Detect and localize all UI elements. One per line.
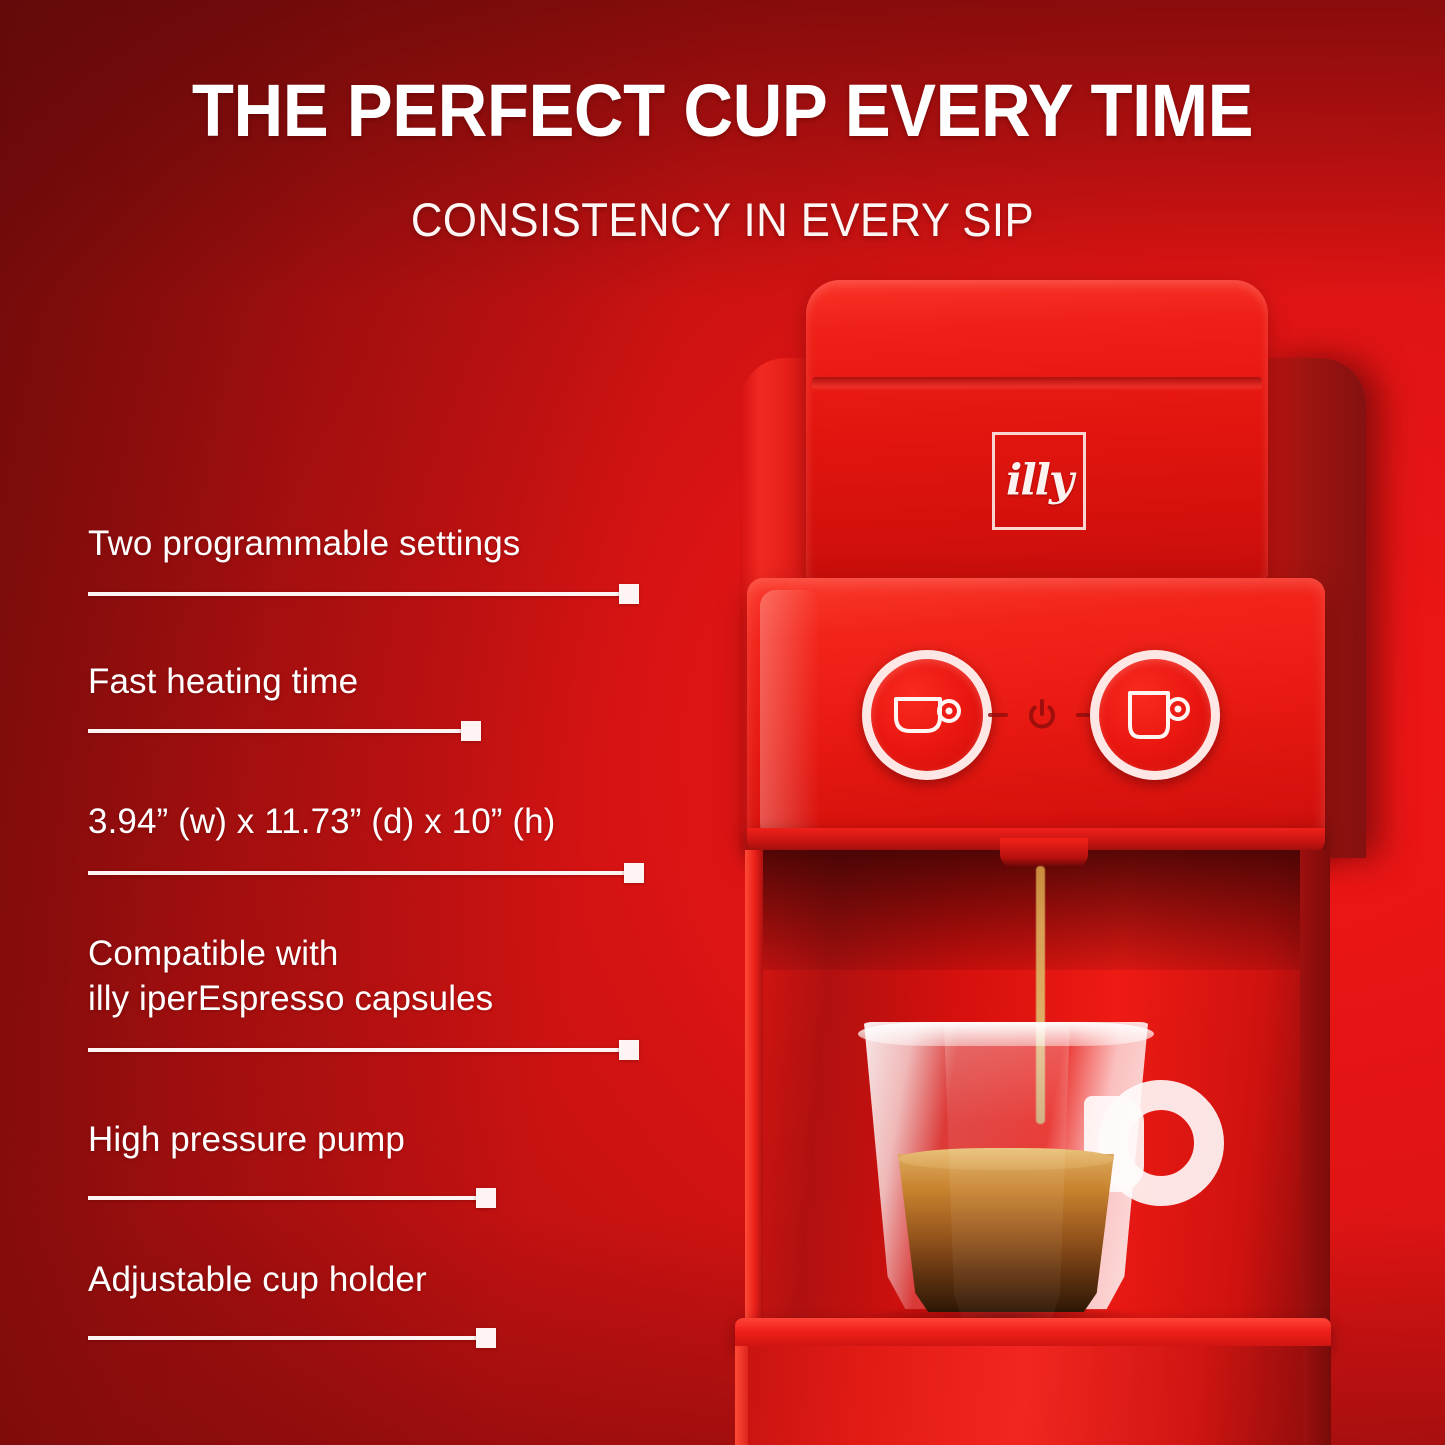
rule-end-cap (624, 863, 644, 883)
feature-item-6: Adjustable cup holder (88, 1258, 427, 1303)
feature-label: 3.94” (w) x 11.73” (d) x 10” (h) (88, 800, 555, 845)
feature-label: Fast heating time (88, 660, 358, 705)
feature-rule-3 (88, 871, 635, 875)
feature-rule-5 (88, 1196, 487, 1200)
cup-handle (1098, 1080, 1224, 1206)
espresso-button[interactable] (862, 650, 992, 780)
brew-spout (1000, 838, 1088, 868)
feature-rule-1 (88, 592, 630, 596)
capsule-lid (806, 280, 1268, 580)
illy-square-logo: illy (992, 432, 1086, 530)
tall-mug-icon (1118, 687, 1192, 743)
rule-end-cap (461, 721, 481, 741)
machine-wing-right (1262, 358, 1366, 858)
rule-end-cap (476, 1328, 496, 1348)
cup-body (858, 1022, 1154, 1318)
machine-column (753, 850, 1319, 1330)
power-icon (1025, 698, 1059, 732)
chamber-shadow (753, 850, 1319, 970)
feature-list: Two programmable settings Fast heating t… (0, 0, 700, 1445)
product-feature-graphic: THE PERFECT CUP EVERY TIME CONSISTENCY I… (0, 0, 1445, 1445)
head-highlight (760, 590, 820, 840)
drip-tray-right (1303, 1346, 1331, 1445)
cup-rim (858, 1022, 1154, 1046)
dash-right (1076, 713, 1096, 717)
feature-item-3: 3.94” (w) x 11.73” (d) x 10” (h) (88, 800, 555, 845)
drip-tray-top (735, 1318, 1331, 1348)
coffee-liquid (898, 1154, 1114, 1312)
machine-wing-left (740, 358, 836, 858)
feature-item-5: High pressure pump (88, 1118, 405, 1163)
machine-head-panel (747, 578, 1325, 850)
cup-handle-join (1084, 1096, 1144, 1192)
drip-tray-left (735, 1346, 753, 1445)
column-right-edge (1300, 850, 1330, 1330)
mug-button[interactable] (1090, 650, 1220, 780)
rule-end-cap (619, 584, 639, 604)
head-lip (747, 828, 1325, 854)
feature-item-1: Two programmable settings (88, 522, 520, 567)
column-left-edge (745, 850, 763, 1330)
drip-tray-body (748, 1346, 1320, 1445)
feature-label: Compatible with illy iperEspresso capsul… (88, 932, 493, 1022)
rule-end-cap (476, 1188, 496, 1208)
feature-label: Adjustable cup holder (88, 1258, 427, 1303)
power-indicator-row (988, 693, 1096, 737)
feature-rule-4 (88, 1048, 630, 1052)
feature-item-4: Compatible with illy iperEspresso capsul… (88, 932, 493, 1022)
feature-rule-2 (88, 729, 472, 733)
espresso-cup (858, 1022, 1188, 1322)
dash-left (988, 713, 1008, 717)
feature-item-2: Fast heating time (88, 660, 358, 705)
feature-rule-6 (88, 1336, 487, 1340)
coffee-stream (1036, 866, 1045, 1124)
cup-shadow (872, 1308, 1140, 1328)
espresso-cup-icon (890, 687, 964, 743)
illy-wordmark: illy (995, 435, 1083, 527)
rule-end-cap (619, 1040, 639, 1060)
feature-label: High pressure pump (88, 1118, 405, 1163)
cup-glass-front (944, 1022, 1070, 1318)
crema-layer (898, 1148, 1114, 1170)
lid-seam (812, 377, 1262, 391)
feature-label: Two programmable settings (88, 522, 520, 567)
